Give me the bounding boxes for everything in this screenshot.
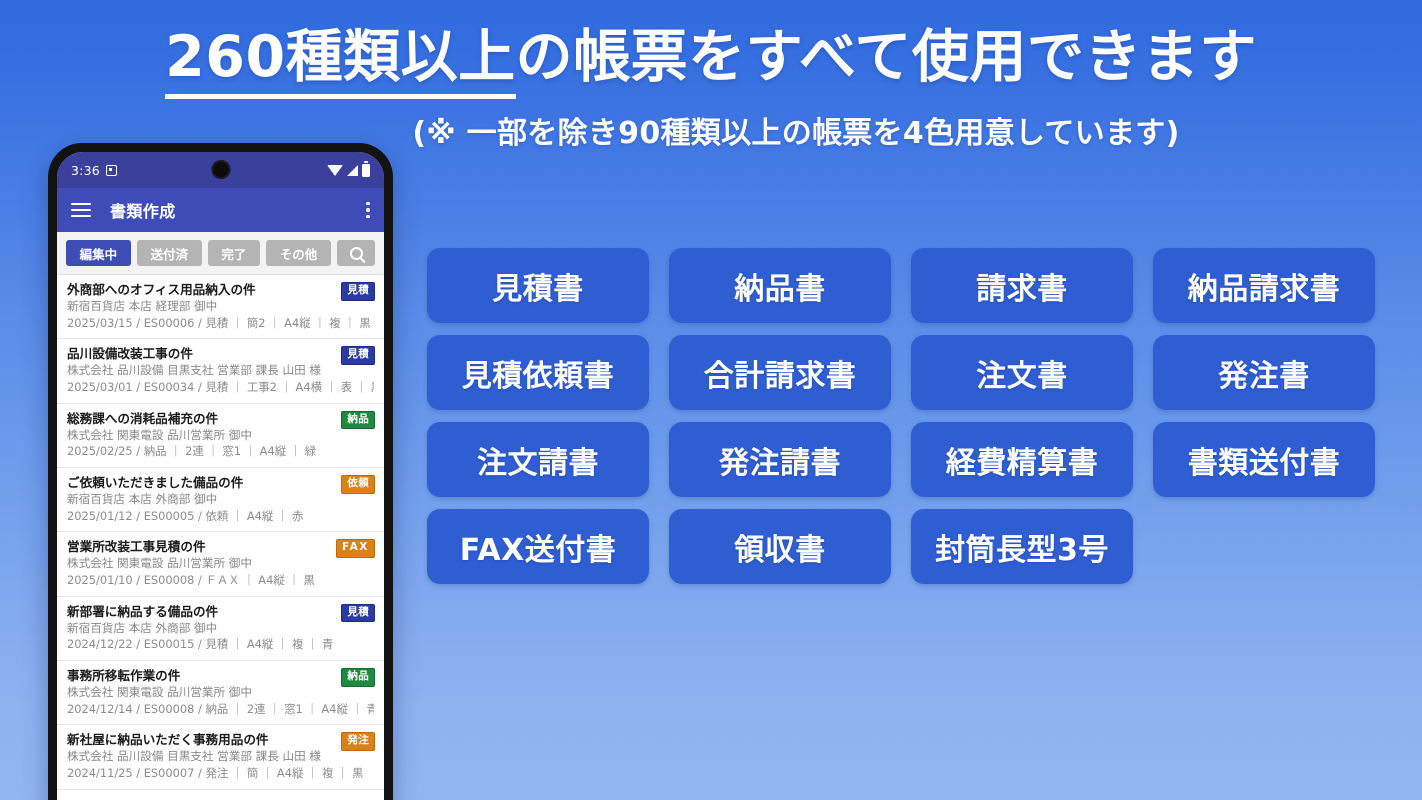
form-button-14[interactable]: 領収書 — [669, 509, 891, 584]
form-button-9[interactable]: 注文請書 — [427, 422, 649, 497]
page-title-underlined: 260種類以上 — [165, 24, 515, 99]
form-button-10[interactable]: 発注請書 — [669, 422, 891, 497]
search-button[interactable] — [337, 240, 375, 266]
document-recipient: 株式会社 品川設備 目黒支社 営業部 課長 山田 様 — [67, 362, 374, 379]
status-bar-left: 3:36 — [71, 163, 117, 178]
document-recipient: 新宿百貨店 本店 外商部 御中 — [67, 620, 374, 637]
page-title: 260種類以上の帳票をすべて使用できます — [165, 26, 1257, 90]
status-badge: 依頼 — [341, 475, 375, 494]
form-button-6[interactable]: 合計請求書 — [669, 335, 891, 410]
document-list-item[interactable]: 新社屋に納品いただく事務用品の件株式会社 品川設備 目黒支社 営業部 課長 山田… — [57, 725, 384, 789]
status-badge: FAX — [336, 539, 375, 558]
tab-editing[interactable]: 編集中 — [66, 240, 131, 266]
document-recipient: 株式会社 品川設備 目黒支社 営業部 課長 山田 様 — [67, 748, 374, 765]
document-list-item[interactable]: 事務所移転作業の件株式会社 関東電設 品川営業所 御中2024/12/14 / … — [57, 661, 384, 725]
hamburger-icon[interactable] — [71, 203, 91, 218]
app-bar: 書類作成 — [57, 188, 384, 232]
status-badge: 納品 — [341, 668, 375, 687]
form-button-11[interactable]: 経費精算書 — [911, 422, 1133, 497]
status-bar: 3:36 — [57, 152, 384, 188]
document-title: 新部署に納品する備品の件 — [67, 603, 374, 620]
search-icon — [350, 247, 363, 260]
form-button-8[interactable]: 発注書 — [1153, 335, 1375, 410]
document-meta: 2025/02/25 / 納品 ｜ 2連 ｜ 窓1 ｜ A4縦 ｜ 緑 — [67, 443, 374, 460]
document-recipient: 新宿百貨店 本店 経理部 御中 — [67, 298, 374, 315]
phone-screen: 3:36 書類作成 編集中 送付済 完了 その他 外商部へのオフィス用品納 — [57, 152, 384, 800]
document-title: ご依頼いただきました備品の件 — [67, 474, 374, 491]
document-meta: 2024/11/25 / ES00007 / 発注 ｜ 簡 ｜ A4縦 ｜ 複 … — [67, 765, 374, 782]
tab-strip: 編集中 送付済 完了 その他 — [57, 232, 384, 275]
form-button-7[interactable]: 注文書 — [911, 335, 1133, 410]
document-list-item[interactable]: 新部署に納品する備品の件新宿百貨店 本店 外商部 御中2024/12/22 / … — [57, 597, 384, 661]
status-bar-right — [327, 164, 370, 177]
document-list-item[interactable]: 総務課への消耗品補充の件株式会社 関東電設 品川営業所 御中2025/02/25… — [57, 404, 384, 468]
document-meta: 2025/01/12 / ES00005 / 依頼 ｜ A4縦 ｜ 赤 — [67, 508, 374, 525]
status-badge: 納品 — [341, 411, 375, 430]
document-meta: 2025/03/15 / ES00006 / 見積 ｜ 簡2 ｜ A4縦 ｜ 複… — [67, 315, 374, 332]
form-button-3[interactable]: 請求書 — [911, 248, 1133, 323]
form-button-5[interactable]: 見積依頼書 — [427, 335, 649, 410]
document-list[interactable]: 外商部へのオフィス用品納入の件新宿百貨店 本店 経理部 御中2025/03/15… — [57, 275, 384, 800]
document-title: 新社屋に納品いただく事務用品の件 — [67, 731, 374, 748]
document-title: 事務所移転作業の件 — [67, 667, 374, 684]
document-meta: 2025/03/01 / ES00034 / 見積 ｜ 工事2 ｜ A4横 ｜ … — [67, 379, 374, 396]
form-button-13[interactable]: FAX送付書 — [427, 509, 649, 584]
document-title: 営業所改装工事見積の件 — [67, 538, 374, 555]
header-block: 260種類以上の帳票をすべて使用できます (※ 一部を除き90種類以上の帳票を4… — [0, 0, 1422, 152]
form-button-2[interactable]: 納品書 — [669, 248, 891, 323]
tab-other[interactable]: その他 — [266, 240, 331, 266]
page-title-rest: の帳票をすべて使用できます — [516, 24, 1257, 90]
form-button-4[interactable]: 納品請求書 — [1153, 248, 1375, 323]
wifi-icon — [327, 165, 343, 176]
front-camera-icon — [211, 160, 230, 179]
status-badge: 見積 — [341, 282, 375, 301]
document-recipient: 株式会社 関東電設 品川営業所 御中 — [67, 555, 374, 572]
kebab-menu-icon[interactable] — [366, 202, 370, 219]
status-badge: 発注 — [341, 732, 375, 751]
document-list-item[interactable]: 営業所改装工事見積の件株式会社 関東電設 品川営業所 御中2025/01/10 … — [57, 532, 384, 596]
app-title: 書類作成 — [110, 198, 176, 222]
document-list-item[interactable]: 外商部へのオフィス用品納入の件新宿百貨店 本店 経理部 御中2025/03/15… — [57, 275, 384, 339]
document-meta: 2024/12/14 / ES00008 / 納品 ｜ 2連 ｜ 窓1 ｜ A4… — [67, 701, 374, 718]
form-button-grid: 見積書納品書請求書納品請求書見積依頼書合計請求書注文書発注書注文請書発注請書経費… — [427, 248, 1375, 584]
document-meta: 2025/01/10 / ES00008 / ＦＡＸ ｜ A4縦 ｜ 黒 — [67, 572, 374, 589]
status-badge: 見積 — [341, 604, 375, 623]
phone-mockup: 3:36 書類作成 編集中 送付済 完了 その他 外商部へのオフィス用品納 — [48, 143, 393, 800]
document-meta: 2024/12/22 / ES00015 / 見積 ｜ A4縦 ｜ 複 ｜ 青 — [67, 636, 374, 653]
status-badge: 見積 — [341, 346, 375, 365]
status-bar-time: 3:36 — [71, 163, 100, 178]
document-recipient: 株式会社 関東電設 品川営業所 御中 — [67, 427, 374, 444]
form-button-15[interactable]: 封筒長型3号 — [911, 509, 1133, 584]
battery-icon — [362, 164, 370, 177]
tab-sent[interactable]: 送付済 — [137, 240, 202, 266]
document-recipient: 株式会社 関東電設 品川営業所 御中 — [67, 684, 374, 701]
document-recipient: 新宿百貨店 本店 外商部 御中 — [67, 491, 374, 508]
document-list-item[interactable]: ご依頼いただきました備品の件新宿百貨店 本店 外商部 御中2025/01/12 … — [57, 468, 384, 532]
document-list-item[interactable]: 品川設備改装工事の件株式会社 品川設備 目黒支社 営業部 課長 山田 様2025… — [57, 339, 384, 403]
tab-completed[interactable]: 完了 — [208, 240, 260, 266]
form-button-1[interactable]: 見積書 — [427, 248, 649, 323]
document-title: 品川設備改装工事の件 — [67, 345, 374, 362]
document-title: 外商部へのオフィス用品納入の件 — [67, 281, 374, 298]
signal-icon — [347, 165, 358, 176]
document-title: 総務課への消耗品補充の件 — [67, 410, 374, 427]
screenshot-icon — [106, 165, 117, 176]
form-button-12[interactable]: 書類送付書 — [1153, 422, 1375, 497]
